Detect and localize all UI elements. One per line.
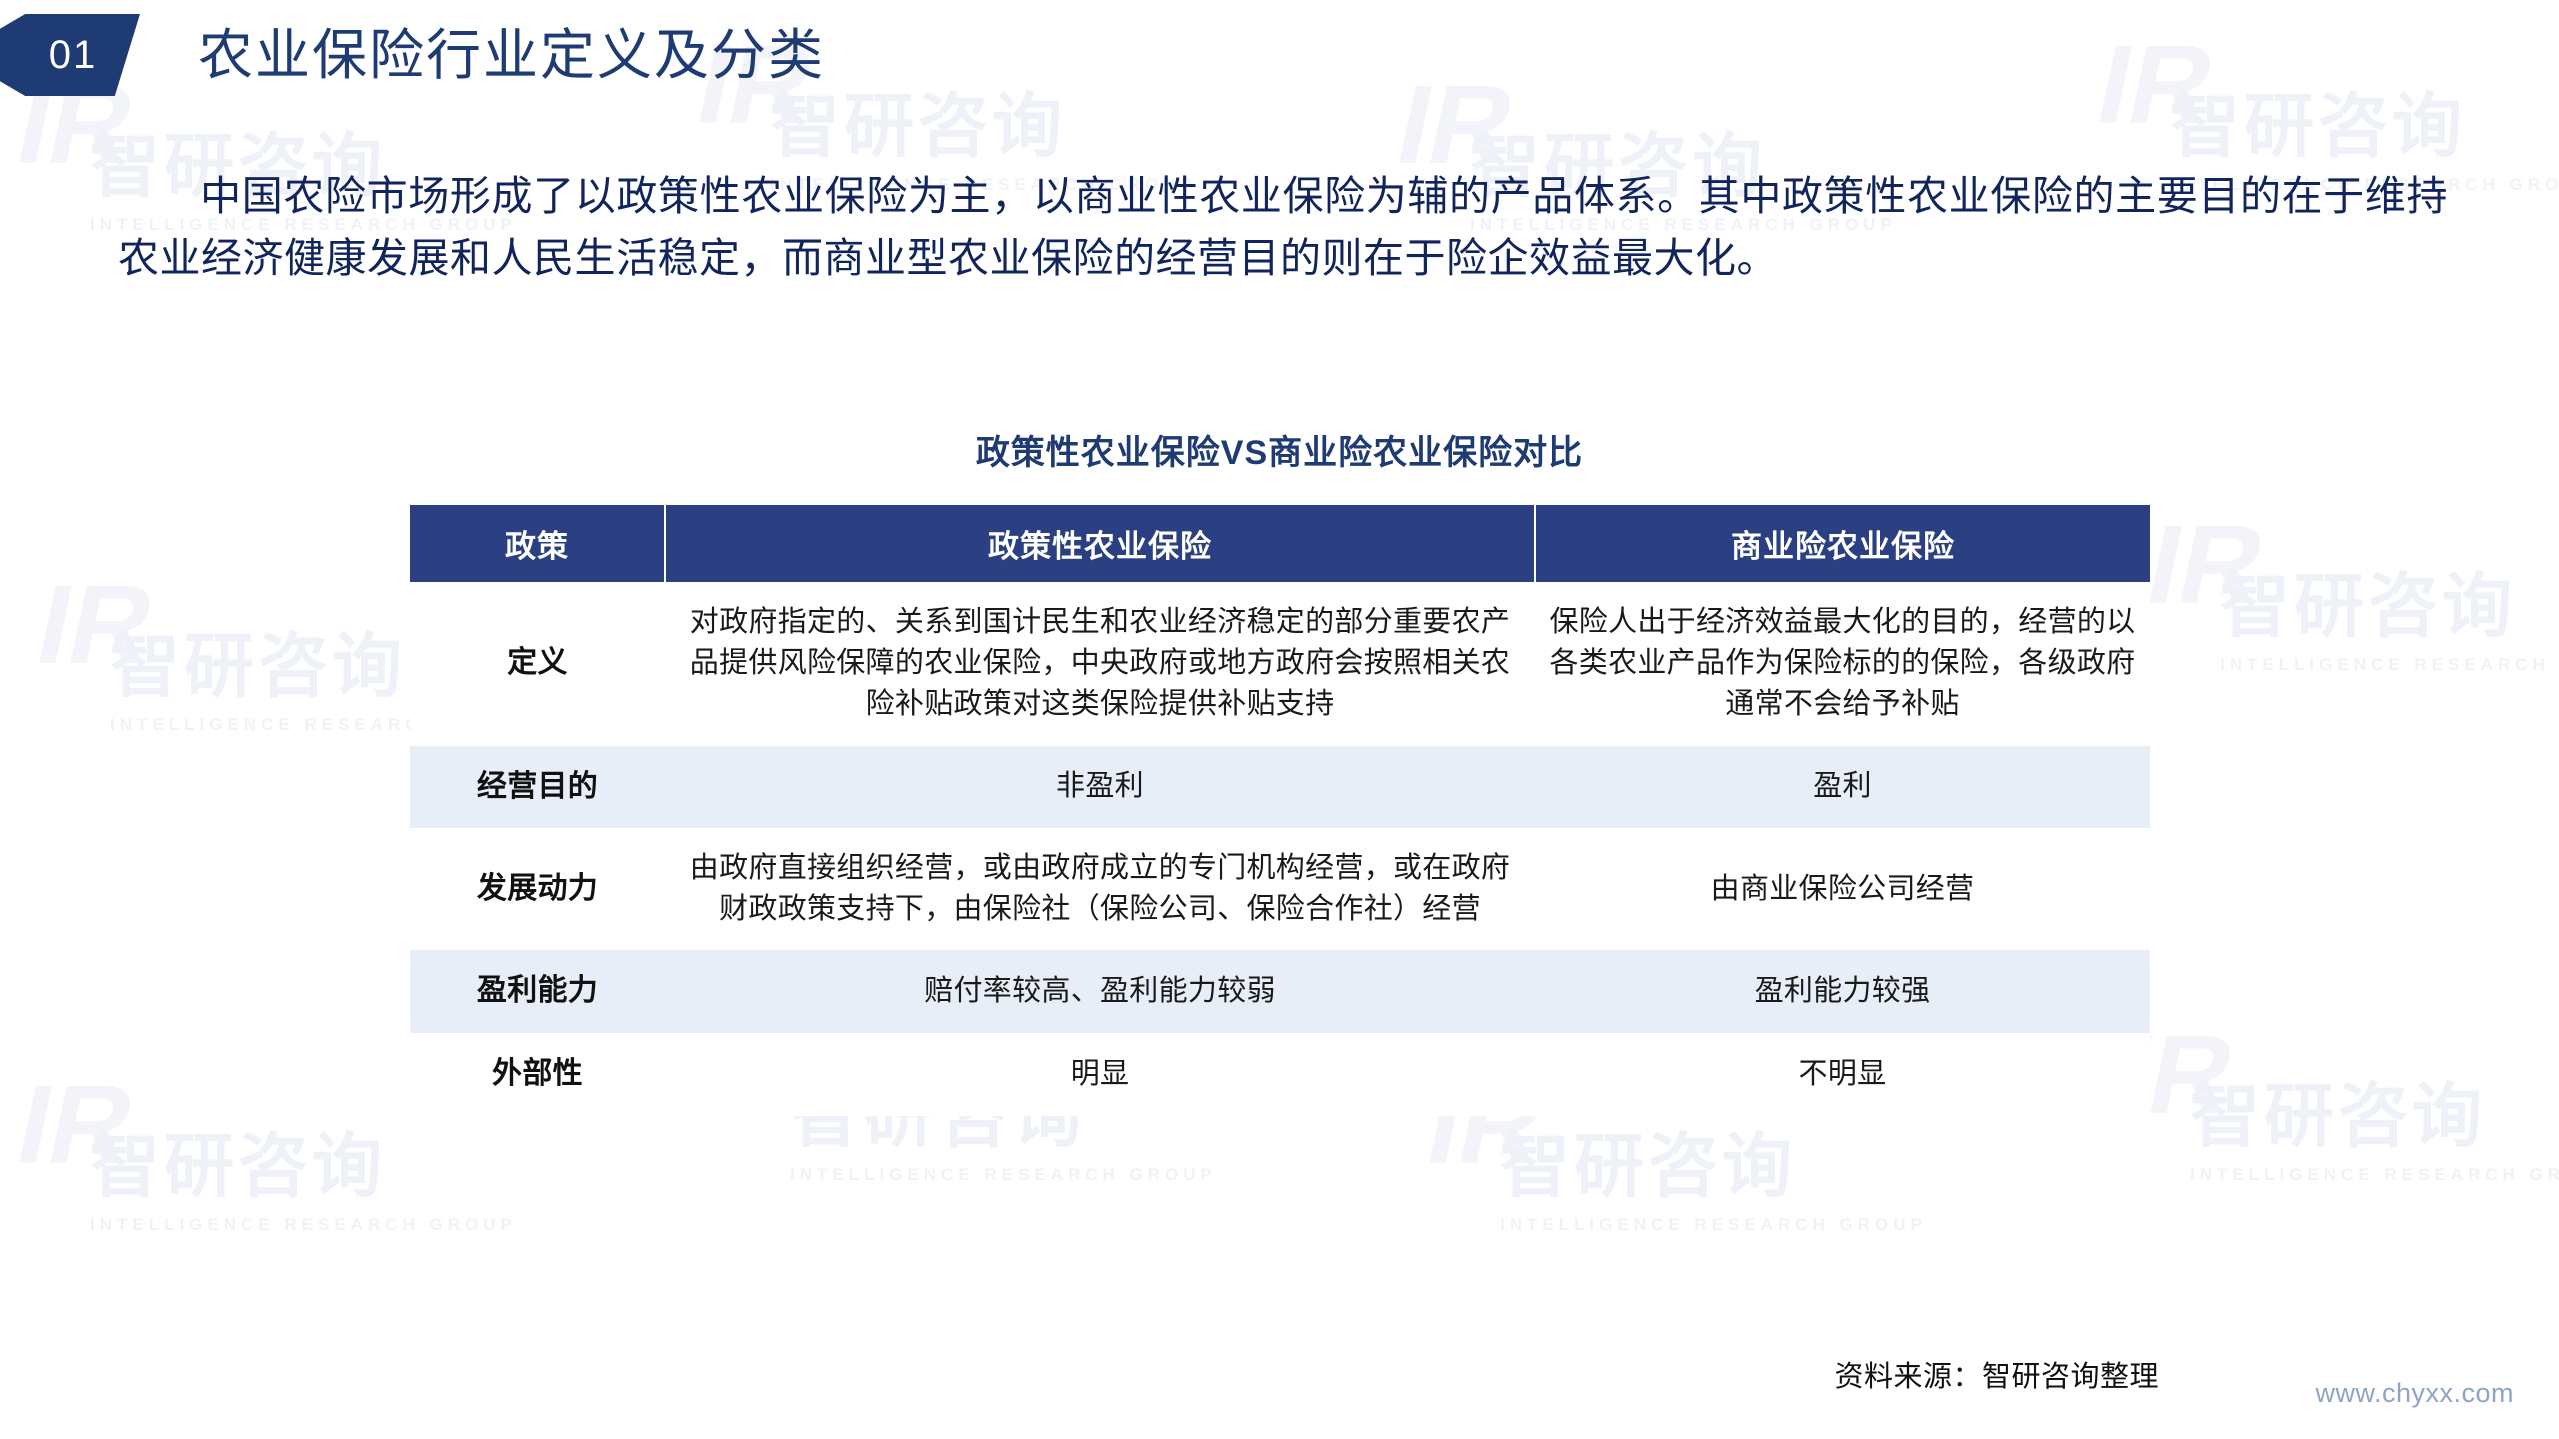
table-row: 盈利能力 赔付率较高、盈利能力较弱 盈利能力较强 <box>410 950 2150 1033</box>
cell-driver-policy: 由政府直接组织经营，或由政府成立的专门机构经营，或在政府财政政策支持下，由保险社… <box>665 828 1535 950</box>
watermark-text: 智研咨询INTELLIGENCE RESEARCH GROUP <box>1500 1110 1927 1235</box>
column-header-commercial-insurance: 商业险农业保险 <box>1535 505 2150 582</box>
watermark-logo: IR <box>2136 500 2275 629</box>
cell-definition-policy: 对政府指定的、关系到国计民生和农业经济稳定的部分重要农产品提供风险保障的农业保险… <box>665 582 1535 746</box>
table-row: 经营目的 非盈利 盈利 <box>410 746 2150 829</box>
website-url[interactable]: www.chyxx.com <box>2315 1378 2514 1409</box>
table-header-row: 政策 政策性农业保险 商业险农业保险 <box>410 505 2150 582</box>
paragraph-text: 中国农险市场形成了以政策性农业保险为主，以商业性农业保险为辅的产品体系。其中政策… <box>118 173 2448 281</box>
row-label-profitability: 盈利能力 <box>410 950 665 1033</box>
row-label-externality: 外部性 <box>410 1033 665 1116</box>
cell-purpose-commercial: 盈利 <box>1535 746 2150 829</box>
watermark-logo: IR <box>2086 20 2225 149</box>
source-note: 资料来源：智研咨询整理 <box>1834 1353 2159 1395</box>
intro-paragraph: 中国农险市场形成了以政策性农业保险为主，以商业性农业保险为辅的产品体系。其中政策… <box>118 165 2448 290</box>
slide-canvas: IR 智研咨询INTELLIGENCE RESEARCH GROUP IR 智研… <box>0 0 2559 1439</box>
row-label-definition: 定义 <box>410 582 665 746</box>
cell-profitability-commercial: 盈利能力较强 <box>1535 950 2150 1033</box>
cell-driver-commercial: 由商业保险公司经营 <box>1535 828 2150 950</box>
section-number-badge: 01 <box>0 14 140 96</box>
slide-header: 01 农业保险行业定义及分类 <box>0 14 825 96</box>
watermark-logo: IR <box>26 560 165 689</box>
column-header-policy: 政策 <box>410 505 665 582</box>
cell-profitability-policy: 赔付率较高、盈利能力较弱 <box>665 950 1535 1033</box>
cell-externality-commercial: 不明显 <box>1535 1033 2150 1116</box>
watermark-logo: IR <box>6 1060 145 1189</box>
cell-purpose-policy: 非盈利 <box>665 746 1535 829</box>
column-header-policy-insurance: 政策性农业保险 <box>665 505 1535 582</box>
page-title: 农业保险行业定义及分类 <box>198 28 825 83</box>
table-row: 发展动力 由政府直接组织经营，或由政府成立的专门机构经营，或在政府财政政策支持下… <box>410 828 2150 950</box>
row-label-purpose: 经营目的 <box>410 746 665 829</box>
comparison-table: 政策 政策性农业保险 商业险农业保险 定义 对政府指定的、关系到国计民生和农业经… <box>410 505 2150 1116</box>
comparison-table-wrapper: 政策 政策性农业保险 商业险农业保险 定义 对政府指定的、关系到国计民生和农业经… <box>410 505 2150 1116</box>
watermark-text: 智研咨询INTELLIGENCE RESEARCH GROUP <box>90 1110 517 1235</box>
table-title: 政策性农业保险VS商业险农业保险对比 <box>0 425 2559 474</box>
cell-definition-commercial: 保险人出于经济效益最大化的目的，经营的以各类农业产品作为保险标的的保险，各级政府… <box>1535 582 2150 746</box>
cell-externality-policy: 明显 <box>665 1033 1535 1116</box>
table-row: 定义 对政府指定的、关系到国计民生和农业经济稳定的部分重要农产品提供风险保障的农… <box>410 582 2150 746</box>
watermark-text: 智研咨询INTELLIGENCE RESEARCH GROUP <box>2220 550 2559 675</box>
table-row: 外部性 明显 不明显 <box>410 1033 2150 1116</box>
watermark-text: 智研咨询INTELLIGENCE RESEARCH GROUP <box>2190 1060 2559 1185</box>
row-label-driver: 发展动力 <box>410 828 665 950</box>
